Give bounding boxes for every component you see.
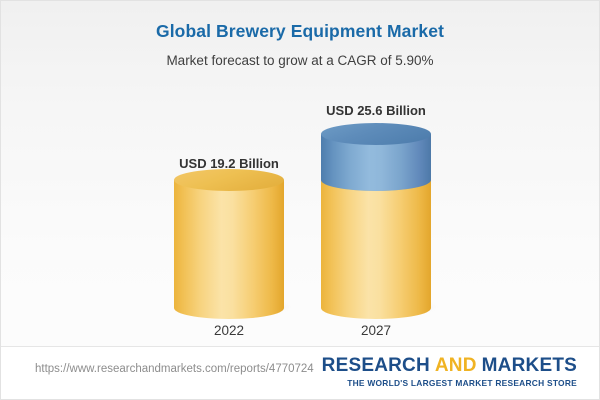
footer-bar: https://www.researchandmarkets.com/repor… [1, 346, 599, 399]
cylinder-top-ellipse [321, 123, 431, 145]
cylinder-bar-2022 [174, 169, 284, 308]
category-label-2022: 2022 [174, 323, 284, 338]
logo-word-research: RESEARCH [322, 355, 430, 376]
chart-poster: Global Brewery Equipment Market Market f… [0, 0, 600, 400]
logo-tagline: THE WORLD'S LARGEST MARKET RESEARCH STOR… [322, 378, 577, 388]
logo-word-and: AND [435, 355, 477, 376]
bar-segment-growth-2027 [321, 123, 431, 180]
chart-plot-area: USD 19.2 Billion 2022 USD 25.6 Billion [1, 1, 600, 346]
cylinder-body [321, 180, 431, 308]
bar-segment-base-2022 [174, 169, 284, 308]
brand-logo[interactable]: RESEARCHANDMARKETS THE WORLD'S LARGEST M… [322, 356, 577, 388]
cylinder-bar-2027 [321, 123, 431, 308]
bar-value-label-2027: USD 25.6 Billion [281, 103, 471, 118]
logo-word-markets: MARKETS [482, 355, 577, 376]
report-url[interactable]: https://www.researchandmarkets.com/repor… [35, 363, 314, 375]
cylinder-top-ellipse [174, 169, 284, 191]
cylinder-body [174, 180, 284, 308]
category-label-2027: 2027 [321, 323, 431, 338]
logo-wordmark: RESEARCHANDMARKETS [322, 356, 577, 376]
